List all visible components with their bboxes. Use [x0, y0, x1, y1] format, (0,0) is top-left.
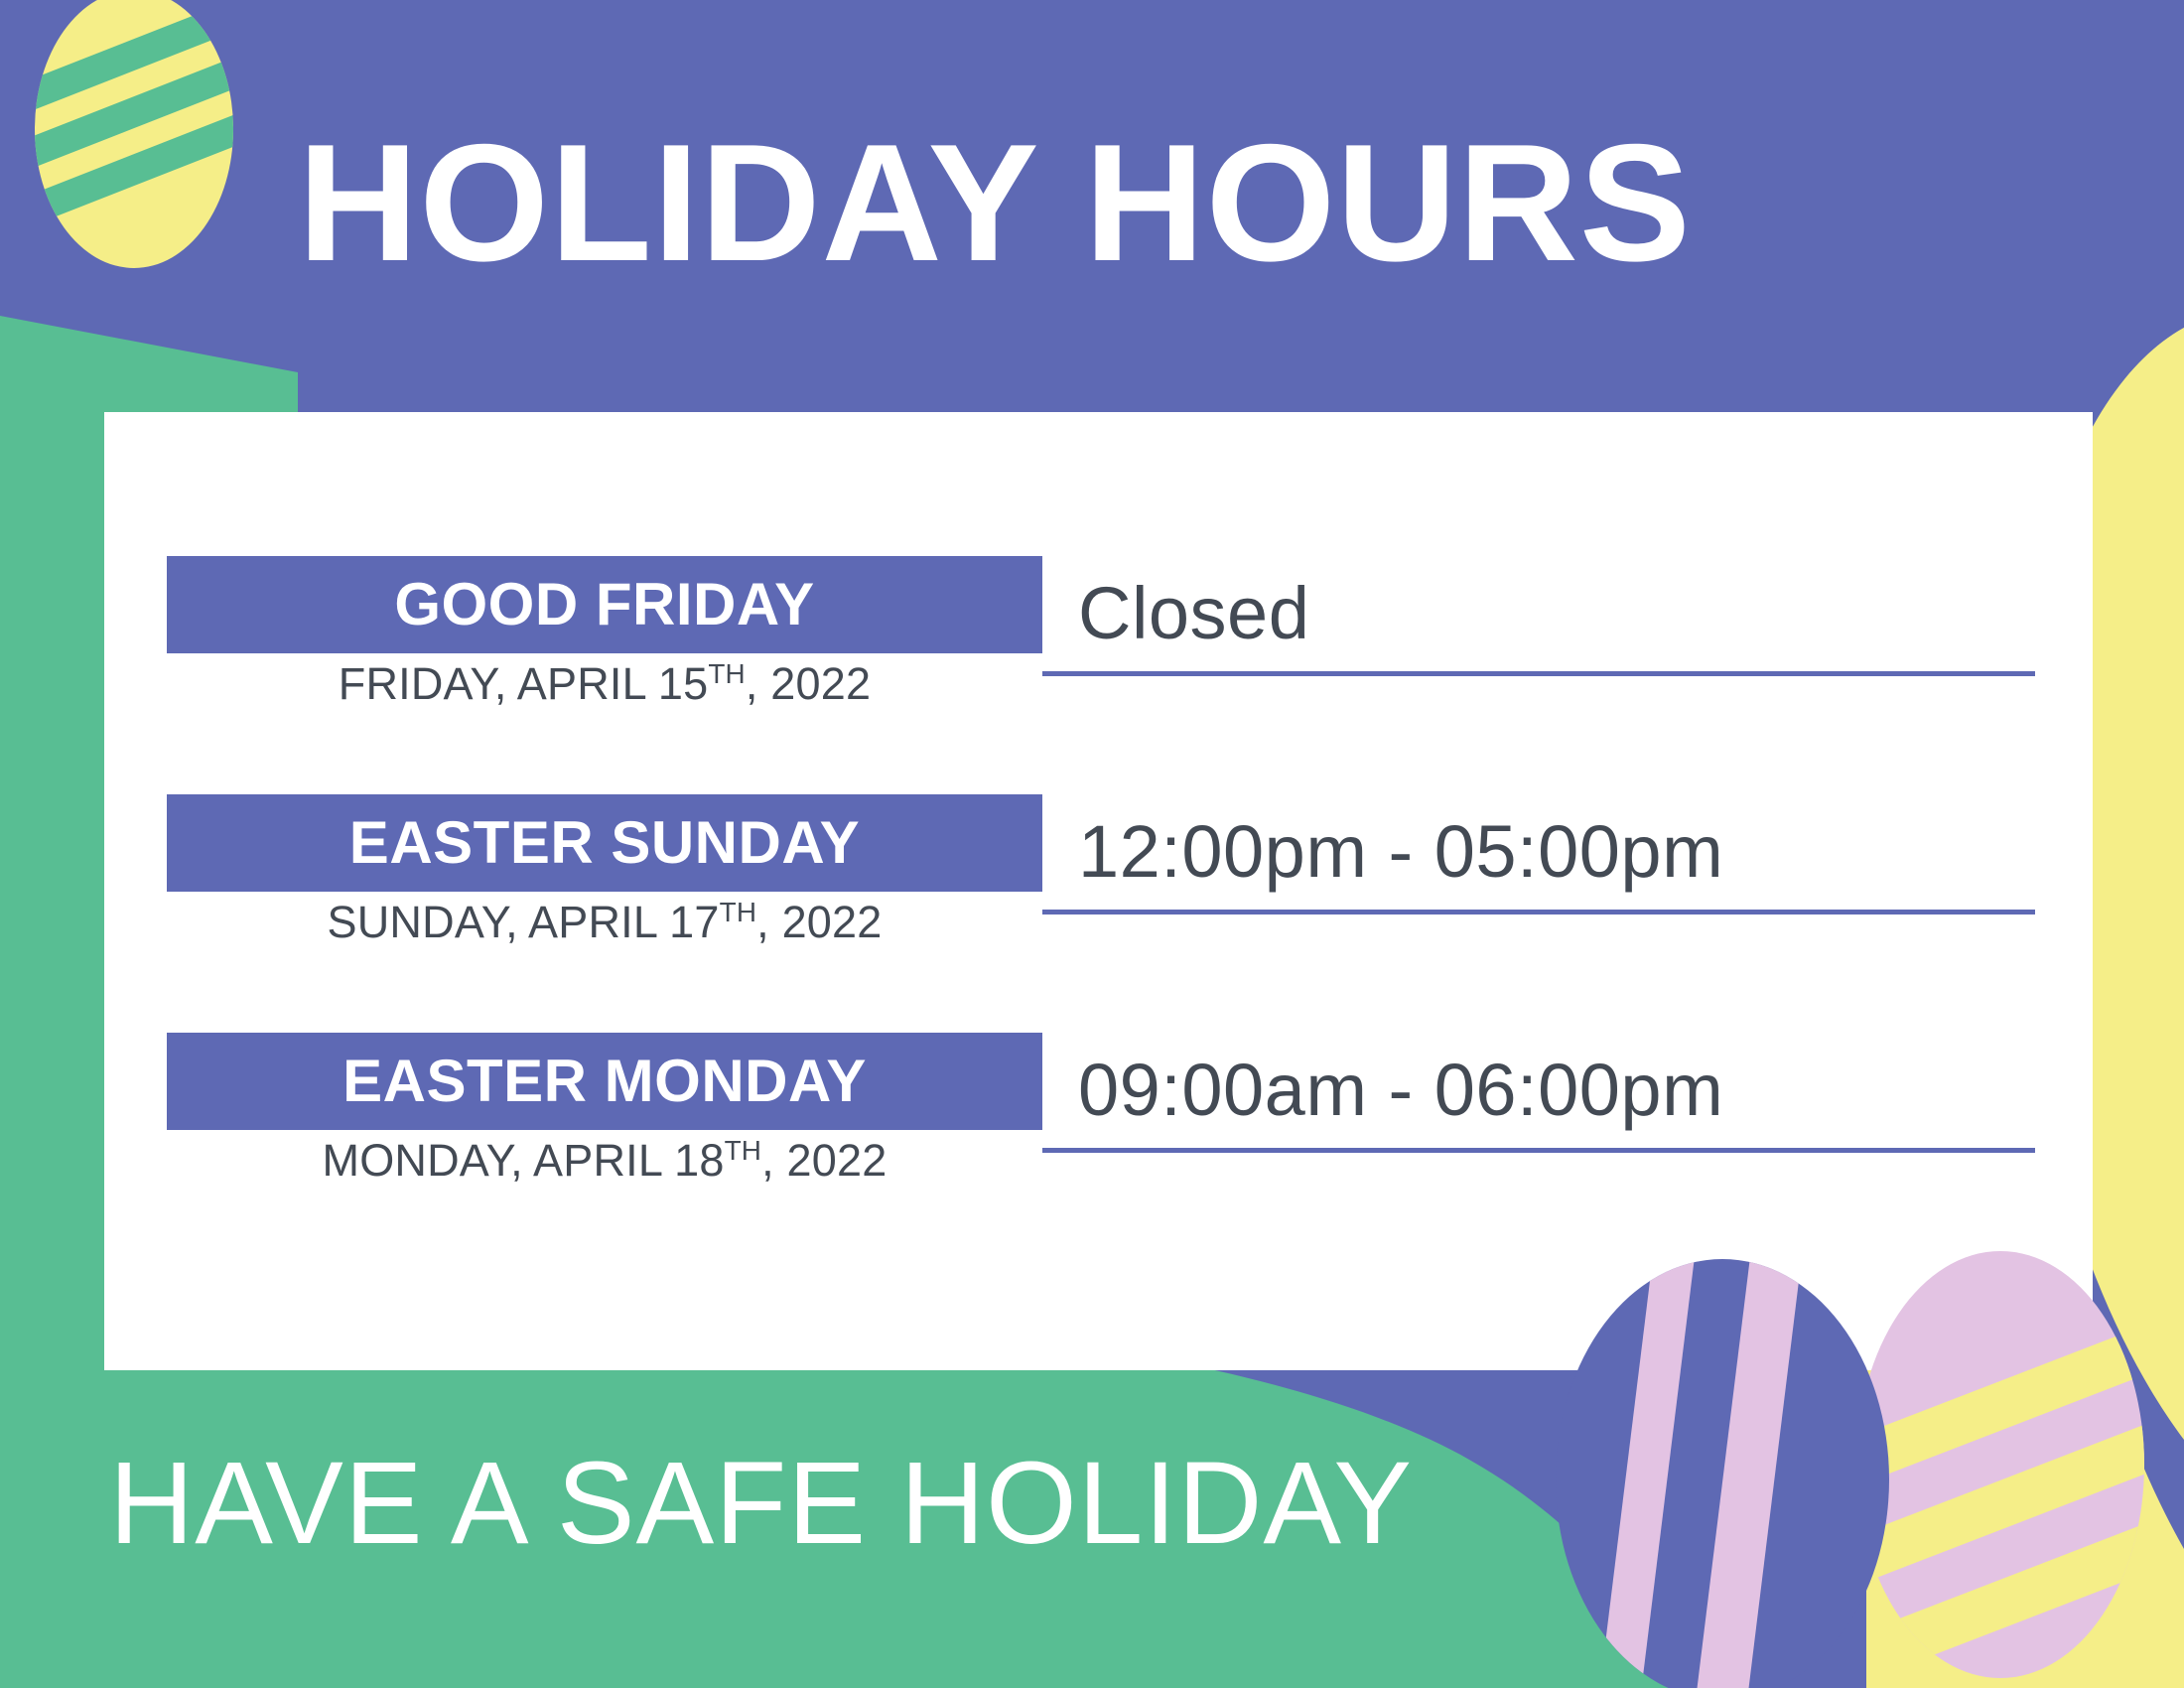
- holiday-date-year: , 2022: [761, 1135, 887, 1186]
- schedule-row: EASTER SUNDAY SUNDAY, APRIL 17TH, 2022 1…: [104, 794, 2093, 1033]
- holiday-date-prefix: SUNDAY, APRIL 17: [328, 897, 720, 947]
- holiday-date: SUNDAY, APRIL 17TH, 2022: [167, 897, 1042, 948]
- holiday-hours: Closed: [1042, 577, 1309, 650]
- schedule-row: EASTER MONDAY MONDAY, APRIL 18TH, 2022 0…: [104, 1033, 2093, 1271]
- holiday-hours: 12:00pm - 05:00pm: [1042, 815, 1723, 889]
- holiday-date-year: , 2022: [756, 897, 882, 947]
- holiday-date-ordinal: TH: [720, 897, 757, 927]
- holiday-name-band: EASTER SUNDAY: [167, 794, 1042, 892]
- holiday-date-prefix: MONDAY, APRIL 18: [323, 1135, 725, 1186]
- holiday-name: EASTER MONDAY: [342, 1052, 867, 1111]
- holiday-hours: 09:00am - 06:00pm: [1042, 1054, 1723, 1127]
- holiday-hours-poster: GOOD FRIDAY FRIDAY, APRIL 15TH, 2022 Clo…: [0, 0, 2184, 1688]
- holiday-hours-cell: Closed: [1042, 556, 2035, 676]
- footer-message: HAVE A SAFE HOLIDAY: [109, 1445, 1797, 1562]
- hours-card: GOOD FRIDAY FRIDAY, APRIL 15TH, 2022 Clo…: [104, 412, 2093, 1370]
- holiday-date-prefix: FRIDAY, APRIL 15: [339, 658, 709, 709]
- holiday-hours-cell: 12:00pm - 05:00pm: [1042, 794, 2035, 914]
- easter-egg-yellow-green-stripes-icon: [20, 0, 248, 278]
- page-title: HOLIDAY HOURS: [298, 119, 2085, 286]
- holiday-date: FRIDAY, APRIL 15TH, 2022: [167, 658, 1042, 710]
- holiday-hours-cell: 09:00am - 06:00pm: [1042, 1033, 2035, 1153]
- holiday-date-ordinal: TH: [708, 658, 746, 689]
- holiday-name-band: EASTER MONDAY: [167, 1033, 1042, 1130]
- schedule-row: GOOD FRIDAY FRIDAY, APRIL 15TH, 2022 Clo…: [104, 556, 2093, 794]
- holiday-date: MONDAY, APRIL 18TH, 2022: [167, 1135, 1042, 1187]
- holiday-name: GOOD FRIDAY: [394, 575, 814, 634]
- holiday-date-ordinal: TH: [725, 1135, 762, 1166]
- holiday-name-band: GOOD FRIDAY: [167, 556, 1042, 653]
- holiday-name: EASTER SUNDAY: [349, 813, 860, 873]
- holiday-date-year: , 2022: [746, 658, 871, 709]
